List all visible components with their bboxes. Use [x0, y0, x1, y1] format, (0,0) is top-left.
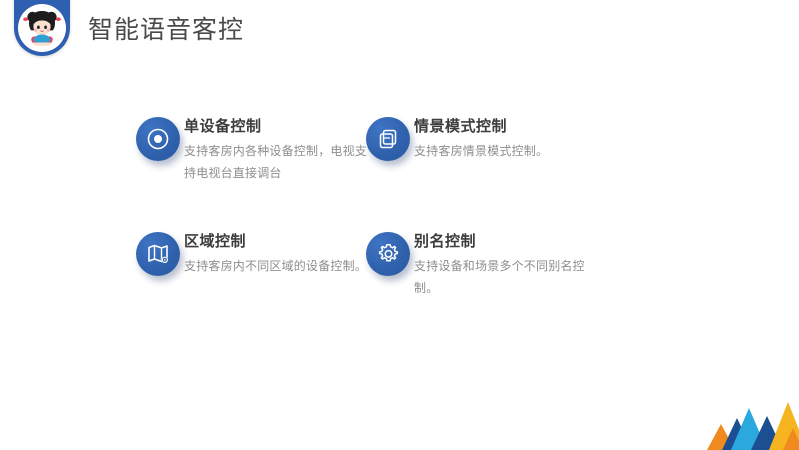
feature-title: 情景模式控制	[414, 117, 610, 137]
feature-description: 支持设备和场景多个不同别名控制。	[414, 255, 604, 299]
feature-description: 支持客房内各种设备控制，电视支持电视台直接调台	[184, 140, 374, 184]
feature-text: 单设备控制 支持客房内各种设备控制，电视支持电视台直接调台	[184, 117, 380, 184]
map-area-gear-icon	[136, 232, 180, 276]
feature-text: 区域控制 支持客房内不同区域的设备控制。	[184, 232, 380, 277]
feature-grid: 单设备控制 支持客房内各种设备控制，电视支持电视台直接调台 情景模式控制 支持客…	[0, 0, 799, 450]
feature-text: 情景模式控制 支持客房情景模式控制。	[414, 117, 610, 162]
feature-text: 别名控制 支持设备和场景多个不同别名控制。	[414, 232, 610, 299]
target-circle-icon	[136, 117, 180, 161]
feature-description: 支持客房内不同区域的设备控制。	[184, 255, 374, 277]
feature-description: 支持客房情景模式控制。	[414, 140, 604, 162]
feature-title: 别名控制	[414, 232, 610, 252]
feature-title: 区域控制	[184, 232, 380, 252]
copy-layers-icon	[366, 117, 410, 161]
feature-title: 单设备控制	[184, 117, 380, 137]
gear-settings-icon	[366, 232, 410, 276]
